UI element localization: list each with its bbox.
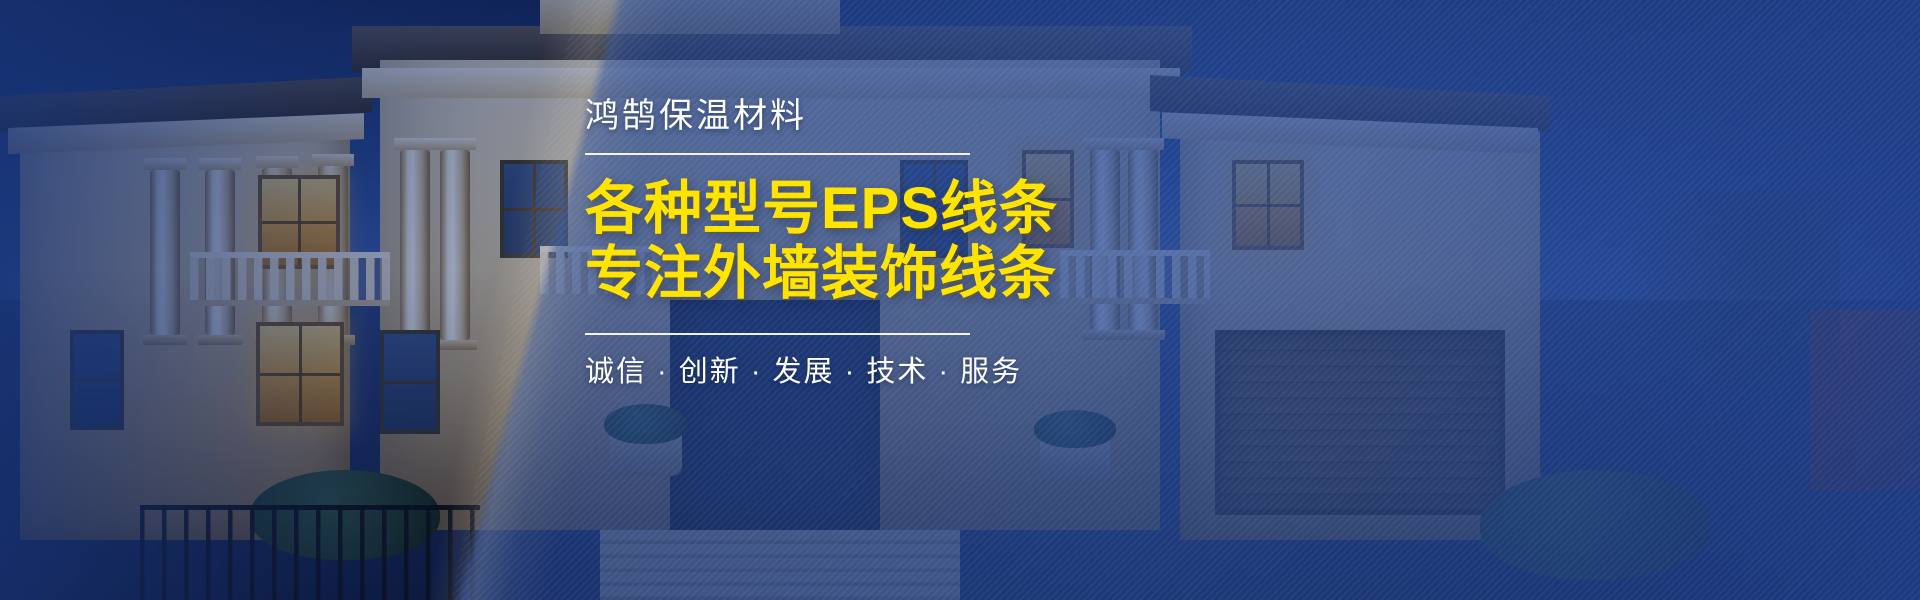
headline-line-1: 各种型号EPS线条: [585, 177, 1005, 242]
banner-content: 鸿鹄保温材料 各种型号EPS线条 专注外墙装饰线条 诚信 · 创新 · 发展 ·…: [585, 96, 1005, 390]
company-name: 鸿鹄保温材料: [585, 96, 1005, 137]
tagline: 诚信 · 创新 · 发展 · 技术 · 服务: [585, 355, 1005, 390]
headline-block: 各种型号EPS线条 专注外墙装饰线条: [585, 177, 1005, 307]
headline-line-2: 专注外墙装饰线条: [585, 242, 1005, 307]
hero-banner: 鸿鹄保温材料 各种型号EPS线条 专注外墙装饰线条 诚信 · 创新 · 发展 ·…: [0, 0, 1920, 600]
divider-bottom: [585, 333, 970, 335]
divider-top: [585, 153, 970, 155]
